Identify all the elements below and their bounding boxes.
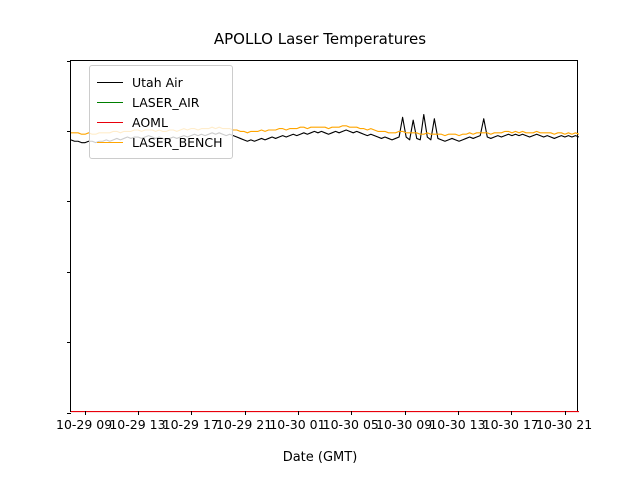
x-tick-mark: [351, 411, 352, 415]
chart-figure: APOLLO Laser Temperatures 0510152025 10-…: [0, 0, 640, 480]
x-tick-label: 10-30 05: [323, 419, 379, 432]
legend-item: LASER_BENCH: [97, 132, 223, 152]
x-tick-mark: [511, 411, 512, 415]
x-tick-mark: [405, 411, 406, 415]
legend-item: LASER_AIR: [97, 92, 223, 112]
legend: Utah AirLASER_AIRAOMLLASER_BENCH: [89, 65, 233, 159]
x-tick-label: 10-30 13: [429, 419, 485, 432]
x-tick-mark: [85, 411, 86, 415]
x-tick-label: 10-30 09: [376, 419, 432, 432]
legend-item: Utah Air: [97, 72, 223, 92]
x-tick-mark: [298, 411, 299, 415]
chart-title: APOLLO Laser Temperatures: [0, 30, 640, 48]
legend-label: LASER_BENCH: [132, 135, 223, 150]
x-tick-mark: [565, 411, 566, 415]
legend-swatch: [97, 122, 123, 123]
y-tick-mark: [67, 413, 71, 414]
legend-swatch: [97, 142, 123, 143]
x-tick-mark: [138, 411, 139, 415]
legend-swatch: [97, 82, 123, 83]
x-tick-label: 10-30 21: [536, 419, 592, 432]
x-tick-label: 10-29 17: [163, 419, 219, 432]
y-tick-mark: [67, 131, 71, 132]
legend-item: AOML: [97, 112, 223, 132]
x-tick-mark: [458, 411, 459, 415]
y-tick-mark: [67, 61, 71, 62]
y-tick-mark: [67, 272, 71, 273]
x-tick-mark: [191, 411, 192, 415]
y-tick-mark: [67, 201, 71, 202]
y-tick-mark: [67, 342, 71, 343]
legend-label: Utah Air: [132, 75, 183, 90]
legend-label: AOML: [132, 115, 168, 130]
legend-label: LASER_AIR: [132, 95, 200, 110]
legend-swatch: [97, 102, 123, 103]
plot-area: 0510152025 10-29 0910-29 1310-29 1710-29…: [70, 60, 578, 412]
x-tick-label: 10-29 21: [216, 419, 272, 432]
x-tick-mark: [245, 411, 246, 415]
x-tick-label: 10-30 01: [269, 419, 325, 432]
x-tick-label: 10-29 09: [56, 419, 112, 432]
x-axis-label: Date (GMT): [0, 450, 640, 465]
x-tick-label: 10-29 13: [109, 419, 165, 432]
x-tick-label: 10-30 17: [483, 419, 539, 432]
